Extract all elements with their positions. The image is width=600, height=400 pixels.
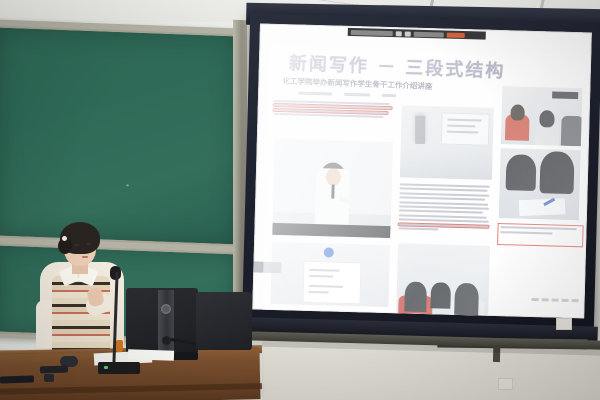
meta-source [298,92,332,96]
projection-screen[interactable]: 新闻写作 － 三段式结构 化工学院举办新闻写作学生骨干工作介绍讲座 [242,1,600,345]
students-writing-photo [499,148,581,220]
article-meta-row [298,91,428,100]
presenter-eye-right [86,243,91,245]
presenter-eye-left [74,244,79,246]
speaker-photo [272,139,393,238]
chrome-icon-a[interactable] [396,31,402,36]
photo-tag-label [552,91,578,99]
chrome-action-button[interactable] [447,32,465,37]
projected-slide[interactable]: 新闻写作 － 三段式结构 化工学院举办新闻写作学生骨干工作介绍讲座 [252,24,592,319]
chalk-mark [126,184,129,186]
browser-chrome-bar[interactable] [348,28,486,40]
screenshot-doc-photo [270,242,390,307]
students-listening-photo [396,243,490,315]
hair-clip [62,236,67,241]
classroom-projection-photo [400,105,494,179]
page-footer-links[interactable] [509,294,579,304]
chrome-menu-strip[interactable] [414,31,444,37]
second-monitor [196,292,252,350]
slide-side-button[interactable] [252,261,281,273]
classroom-scene: 新闻写作 － 三段式结构 化工学院举办新闻写作学生骨干工作介绍讲座 [0,0,600,400]
photo-speaker-lectern [272,223,390,238]
desk-accessory [44,374,54,382]
wall-outlet-lower [498,378,513,390]
wall-outlet-upper [556,318,572,330]
photo-speaker-microphone [331,185,334,199]
meta-date [344,93,370,97]
meta-views [382,94,396,97]
presenter-mouth [82,256,88,258]
remote-control-primary[interactable] [40,366,68,374]
dell-logo-icon [161,304,171,314]
caption-box [498,224,583,246]
blue-badge-icon [324,247,334,257]
article-column-2 [398,183,491,234]
papers-secondary [128,349,174,361]
chrome-url-bar[interactable] [351,29,393,35]
power-adapter [116,340,123,352]
chalkboard-surface-upper [0,26,238,247]
chrome-icon-b[interactable] [405,31,411,36]
remote-control-secondary[interactable] [0,375,34,383]
article-column [273,100,393,121]
students-row-photo [501,86,583,146]
microphone-led-indicator [104,366,108,369]
